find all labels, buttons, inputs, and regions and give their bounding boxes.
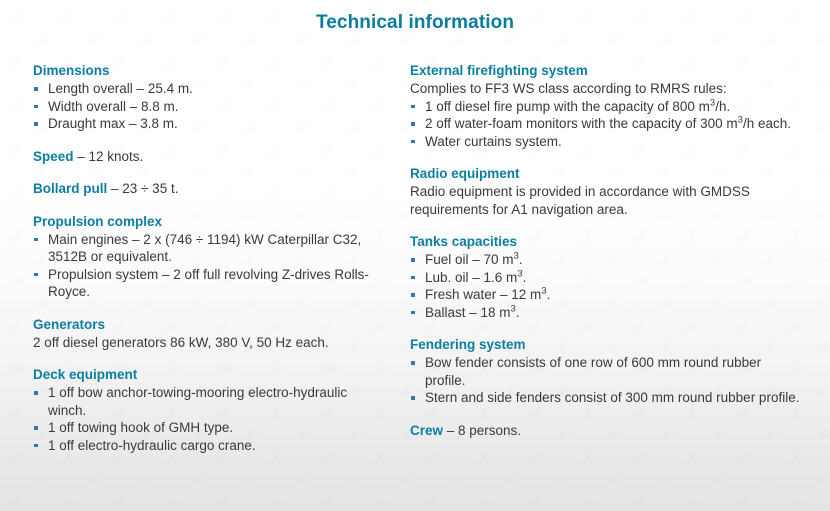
bullet-item-text: Ballast – 18 m3. <box>425 305 520 320</box>
inline-spec-label: Crew <box>410 423 443 438</box>
section-fendering-system: Fendering systemBow fender consists of o… <box>410 336 800 407</box>
bullet-item-text: Main engines – 2 x (746 ÷ 1194) kW Cater… <box>48 232 361 265</box>
bullet-item-text: Propulsion system – 2 off full revolving… <box>48 267 369 300</box>
left-column: DimensionsLength overall – 25.4 m.Width … <box>33 62 383 454</box>
bullet-square-icon <box>411 258 415 262</box>
section-heading: Deck equipment <box>33 366 383 383</box>
bullet-square-icon <box>34 426 38 430</box>
bullet-item-text: Fuel oil – 70 m3. <box>425 252 523 267</box>
bullet-square-icon <box>411 293 415 297</box>
bullet-list: 1 off bow anchor-towing-mooring electro-… <box>33 384 383 454</box>
bullet-item-text: 1 off towing hook of GMH type. <box>48 420 233 435</box>
bullet-square-icon <box>34 238 38 242</box>
bullet-item: Propulsion system – 2 off full revolving… <box>33 266 383 301</box>
bullet-item: Bow fender consists of one row of 600 mm… <box>410 354 800 389</box>
bullet-list: 1 off diesel fire pump with the capacity… <box>410 98 800 151</box>
bullet-item-text: Lub. oil – 1.6 m3. <box>425 270 526 285</box>
bullet-list: Main engines – 2 x (746 ÷ 1194) kW Cater… <box>33 231 383 301</box>
bullet-item: Width overall – 8.8 m. <box>33 98 383 116</box>
section-heading: Generators <box>33 316 383 333</box>
bullet-square-icon <box>34 444 38 448</box>
inline-spec-value: – 12 knots. <box>74 149 144 164</box>
bullet-item: Draught max – 3.8 m. <box>33 115 383 133</box>
bullet-square-icon <box>34 391 38 395</box>
bullet-item: Lub. oil – 1.6 m3. <box>410 269 800 287</box>
section-bollard-pull: Bollard pull – 23 ÷ 35 t. <box>33 180 383 198</box>
section-heading: Fendering system <box>410 336 800 353</box>
inline-spec-line: Speed – 12 knots. <box>33 148 383 166</box>
bullet-item: Water curtains system. <box>410 133 800 151</box>
bullet-item: Ballast – 18 m3. <box>410 304 800 322</box>
bullet-list: Length overall – 25.4 m.Width overall – … <box>33 80 383 133</box>
section-heading: Tanks capacities <box>410 233 800 250</box>
bullet-item-text: Width overall – 8.8 m. <box>48 99 179 114</box>
bullet-square-icon <box>411 311 415 315</box>
bullet-item-text: Length overall – 25.4 m. <box>48 81 193 96</box>
bullet-square-icon <box>34 105 38 109</box>
technical-information-page: Technical information DimensionsLength o… <box>0 0 830 511</box>
section-propulsion-complex: Propulsion complexMain engines – 2 x (74… <box>33 213 383 301</box>
section-heading: Propulsion complex <box>33 213 383 230</box>
inline-spec-label: Speed <box>33 149 74 164</box>
bullet-item: 1 off electro-hydraulic cargo crane. <box>33 437 383 455</box>
section-generators: Generators2 off diesel generators 86 kW,… <box>33 316 383 352</box>
bullet-square-icon <box>411 140 415 144</box>
bullet-item: 1 off bow anchor-towing-mooring electro-… <box>33 384 383 419</box>
section-speed: Speed – 12 knots. <box>33 148 383 166</box>
bullet-square-icon <box>411 105 415 109</box>
bullet-square-icon <box>34 87 38 91</box>
bullet-item: Fuel oil – 70 m3. <box>410 251 800 269</box>
section-note: Radio equipment is provided in accordanc… <box>410 183 800 218</box>
section-deck-equipment: Deck equipment1 off bow anchor-towing-mo… <box>33 366 383 454</box>
bullet-square-icon <box>34 273 38 277</box>
bullet-item: Stern and side fenders consist of 300 mm… <box>410 389 800 407</box>
bullet-item-text: Bow fender consists of one row of 600 mm… <box>425 355 761 388</box>
section-external-firefighting-system: External firefighting systemComplies to … <box>410 62 800 150</box>
section-heading: Radio equipment <box>410 165 800 182</box>
bullet-item-text: Stern and side fenders consist of 300 mm… <box>425 390 799 405</box>
bullet-item-text: 1 off electro-hydraulic cargo crane. <box>48 438 256 453</box>
bullet-item-text: Fresh water – 12 m3. <box>425 287 550 302</box>
section-dimensions: DimensionsLength overall – 25.4 m.Width … <box>33 62 383 133</box>
bullet-square-icon <box>411 396 415 400</box>
inline-spec-line: Crew – 8 persons. <box>410 422 800 440</box>
bullet-item-text: Draught max – 3.8 m. <box>48 116 178 131</box>
section-note: Complies to FF3 WS class according to RM… <box>410 80 800 98</box>
bullet-list: Bow fender consists of one row of 600 mm… <box>410 354 800 407</box>
section-heading: External firefighting system <box>410 62 800 79</box>
bullet-item: Fresh water – 12 m3. <box>410 286 800 304</box>
right-column: External firefighting systemComplies to … <box>410 62 800 439</box>
bullet-item-text: 1 off diesel fire pump with the capacity… <box>425 99 730 114</box>
bullet-square-icon <box>411 122 415 126</box>
section-note: 2 off diesel generators 86 kW, 380 V, 50… <box>33 334 383 352</box>
bullet-item-text: 2 off water-foam monitors with the capac… <box>425 116 791 131</box>
section-tanks-capacities: Tanks capacitiesFuel oil – 70 m3.Lub. oi… <box>410 233 800 321</box>
bullet-item: Main engines – 2 x (746 ÷ 1194) kW Cater… <box>33 231 383 266</box>
page-title: Technical information <box>0 12 830 34</box>
bullet-item: 1 off towing hook of GMH type. <box>33 419 383 437</box>
inline-spec-value: – 8 persons. <box>443 423 521 438</box>
bullet-list: Fuel oil – 70 m3.Lub. oil – 1.6 m3.Fresh… <box>410 251 800 321</box>
inline-spec-line: Bollard pull – 23 ÷ 35 t. <box>33 180 383 198</box>
section-radio-equipment: Radio equipmentRadio equipment is provid… <box>410 165 800 218</box>
bullet-item: 1 off diesel fire pump with the capacity… <box>410 98 800 116</box>
inline-spec-label: Bollard pull <box>33 181 107 196</box>
bullet-item: 2 off water-foam monitors with the capac… <box>410 115 800 133</box>
bullet-square-icon <box>34 122 38 126</box>
bullet-square-icon <box>411 276 415 280</box>
bullet-item-text: 1 off bow anchor-towing-mooring electro-… <box>48 385 347 418</box>
bullet-item: Length overall – 25.4 m. <box>33 80 383 98</box>
section-crew: Crew – 8 persons. <box>410 422 800 440</box>
bullet-square-icon <box>411 361 415 365</box>
bullet-item-text: Water curtains system. <box>425 134 562 149</box>
inline-spec-value: – 23 ÷ 35 t. <box>107 181 178 196</box>
section-heading: Dimensions <box>33 62 383 79</box>
